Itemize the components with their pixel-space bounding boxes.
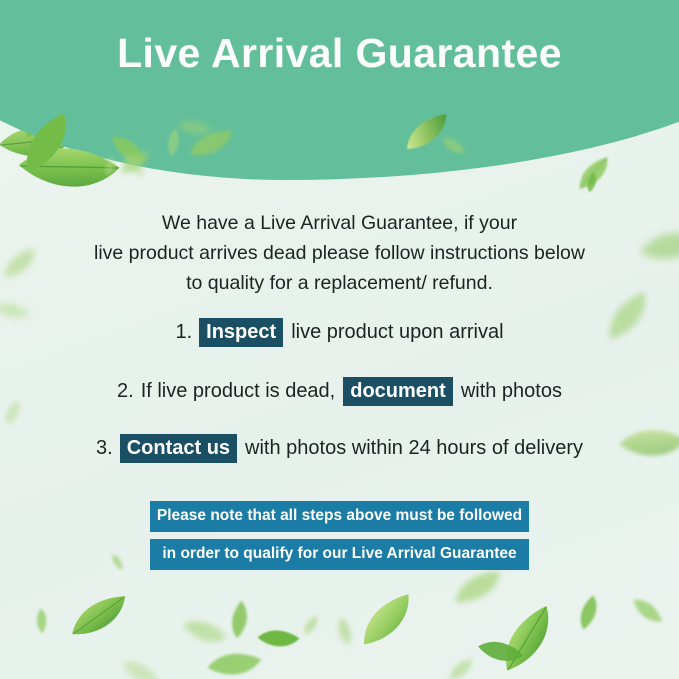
notice-banner: Please note that all steps above must be…: [150, 501, 529, 570]
notice-line-2: in order to qualify for our Live Arrival…: [150, 539, 529, 570]
intro-line-2: live product arrives dead please follow …: [60, 238, 619, 268]
step-item-3: 3. Contact us with photos within 24 hour…: [30, 434, 649, 463]
step-chip-contact-us: Contact us: [120, 434, 237, 463]
notice-line-1: Please note that all steps above must be…: [150, 501, 529, 532]
step-chip-inspect: Inspect: [199, 318, 283, 347]
step-text: with photos: [461, 380, 562, 403]
step-item-2: 2. If live product is dead, document wit…: [30, 377, 649, 406]
step-text: live product upon arrival: [291, 321, 503, 344]
poster-content: We have a Live Arrival Guarantee, if you…: [0, 0, 679, 679]
step-number: 3.: [96, 437, 113, 460]
intro-line-1: We have a Live Arrival Guarantee, if you…: [60, 208, 619, 238]
step-text: with photos within 24 hours of delivery: [245, 437, 583, 460]
step-number: 2.: [117, 380, 134, 403]
live-arrival-guarantee-poster: Live Arrival Guarantee: [0, 0, 679, 679]
step-chip-document: document: [343, 377, 453, 406]
step-item-1: 1. Inspect live product upon arrival: [30, 318, 649, 347]
intro-line-3: to quality for a replacement/ refund.: [60, 268, 619, 298]
intro-paragraph: We have a Live Arrival Guarantee, if you…: [60, 208, 619, 298]
step-text-lead: If live product is dead,: [141, 380, 336, 403]
steps-list: 1. Inspect live product upon arrival 2. …: [30, 318, 649, 463]
step-number: 1.: [175, 321, 192, 344]
